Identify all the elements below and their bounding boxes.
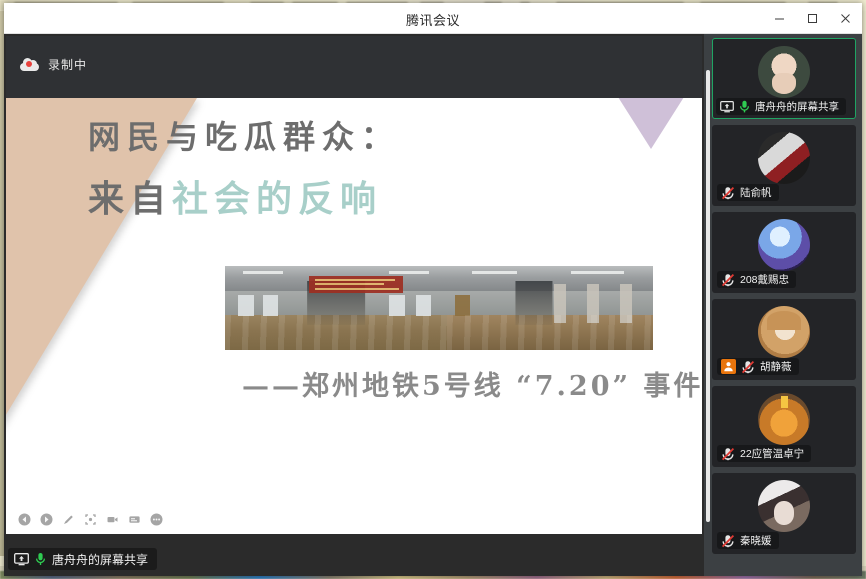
microphone-muted-icon xyxy=(741,360,755,374)
zoom-tool-icon[interactable] xyxy=(84,513,97,526)
minimize-button[interactable] xyxy=(763,3,796,34)
avatar xyxy=(758,132,810,184)
host-badge-icon xyxy=(721,359,736,374)
presenter-view-icon[interactable] xyxy=(106,513,119,526)
participant-tile[interactable]: 陆俞帆 xyxy=(712,125,856,206)
more-options-icon[interactable] xyxy=(150,513,163,526)
flooded-subway-photo-left xyxy=(225,266,447,350)
screen-share-icon xyxy=(14,553,29,566)
participant-nameplate: 陆俞帆 xyxy=(717,184,779,201)
meeting-body: 录制中 网民与吃瓜群众： 来自社会的反响 xyxy=(4,34,862,576)
avatar xyxy=(758,46,810,98)
window-titlebar[interactable]: 腾讯会议 xyxy=(4,3,862,34)
participant-tile[interactable]: 唐舟舟的屏幕共享 xyxy=(712,38,856,119)
window-title: 腾讯会议 xyxy=(4,10,862,29)
participant-name-label: 208戴赐忠 xyxy=(740,272,789,287)
slide-title-line-1: 网民与吃瓜群众： xyxy=(88,112,400,158)
recording-label: 录制中 xyxy=(48,56,87,73)
participant-tile[interactable]: 胡静薇 xyxy=(712,299,856,380)
avatar xyxy=(758,306,810,358)
pen-tool-icon[interactable] xyxy=(62,513,75,526)
presentation-slide: 网民与吃瓜群众： 来自社会的反响 xyxy=(6,98,702,534)
slide-title-highlight: 社会的反响 xyxy=(172,178,382,220)
window-controls xyxy=(763,3,862,34)
slide-title-plain: 来自 xyxy=(88,178,172,220)
participant-name-label: 胡静薇 xyxy=(760,359,792,374)
avatar xyxy=(758,393,810,445)
microphone-active-icon xyxy=(35,552,46,566)
participant-name-label: 22应管温卓宁 xyxy=(740,446,804,461)
close-button[interactable] xyxy=(829,3,862,34)
screen-share-icon xyxy=(720,101,734,113)
microphone-muted-icon xyxy=(721,534,735,548)
flooded-subway-photo-right xyxy=(447,266,653,350)
slide-caption: ——郑州地铁5号线 “7.20” 事件 xyxy=(242,364,702,403)
participant-tile[interactable]: 秦晓媛 xyxy=(712,473,856,554)
shared-screen-stage[interactable]: 录制中 网民与吃瓜群众： 来自社会的反响 xyxy=(4,34,704,576)
participant-name-label: 陆俞帆 xyxy=(740,185,772,200)
participant-nameplate: 秦晓媛 xyxy=(717,532,779,549)
shared-app-topbar: 录制中 xyxy=(6,36,702,98)
sharer-nameplate: 唐舟舟的屏幕共享 xyxy=(8,548,157,570)
avatar xyxy=(758,219,810,271)
subtitles-icon[interactable] xyxy=(128,513,141,526)
microphone-muted-icon xyxy=(721,447,735,461)
maximize-button[interactable] xyxy=(796,3,829,34)
cloud-recording-icon xyxy=(20,58,39,71)
participant-rail[interactable]: 唐舟舟的屏幕共享陆俞帆208戴赐忠胡静薇22应管温卓宁秦晓媛 xyxy=(704,34,862,576)
recording-indicator: 录制中 xyxy=(20,56,87,73)
ppt-presenter-toolbar[interactable] xyxy=(18,513,163,526)
participant-nameplate: 唐舟舟的屏幕共享 xyxy=(716,98,846,115)
shared-screen-content: 录制中 网民与吃瓜群众： 来自社会的反响 xyxy=(6,36,702,534)
slide-title-line-2: 来自社会的反响 xyxy=(88,170,382,222)
participant-nameplate: 208戴赐忠 xyxy=(717,271,796,288)
participant-rail-scrollbar[interactable] xyxy=(706,70,710,522)
microphone-muted-icon xyxy=(721,273,735,287)
slide-photo-group xyxy=(225,266,653,350)
screen-root: 腾讯会议 xyxy=(0,0,866,579)
participant-tile-list: 唐舟舟的屏幕共享陆俞帆208戴赐忠胡静薇22应管温卓宁秦晓媛 xyxy=(712,38,856,560)
participant-nameplate: 22应管温卓宁 xyxy=(717,445,811,462)
participant-name-label: 唐舟舟的屏幕共享 xyxy=(755,99,839,114)
sharer-name-label: 唐舟舟的屏幕共享 xyxy=(52,551,148,568)
previous-slide-icon[interactable] xyxy=(18,513,31,526)
avatar xyxy=(758,480,810,532)
participant-tile[interactable]: 22应管温卓宁 xyxy=(712,386,856,467)
next-slide-icon[interactable] xyxy=(40,513,53,526)
participant-name-label: 秦晓媛 xyxy=(740,533,772,548)
microphone-muted-icon xyxy=(721,186,735,200)
slide-purple-triangle-decoration xyxy=(618,98,684,149)
tencent-meeting-window: 腾讯会议 xyxy=(4,3,862,576)
participant-nameplate: 胡静薇 xyxy=(717,358,799,375)
participant-tile[interactable]: 208戴赐忠 xyxy=(712,212,856,293)
microphone-active-icon xyxy=(739,100,750,113)
